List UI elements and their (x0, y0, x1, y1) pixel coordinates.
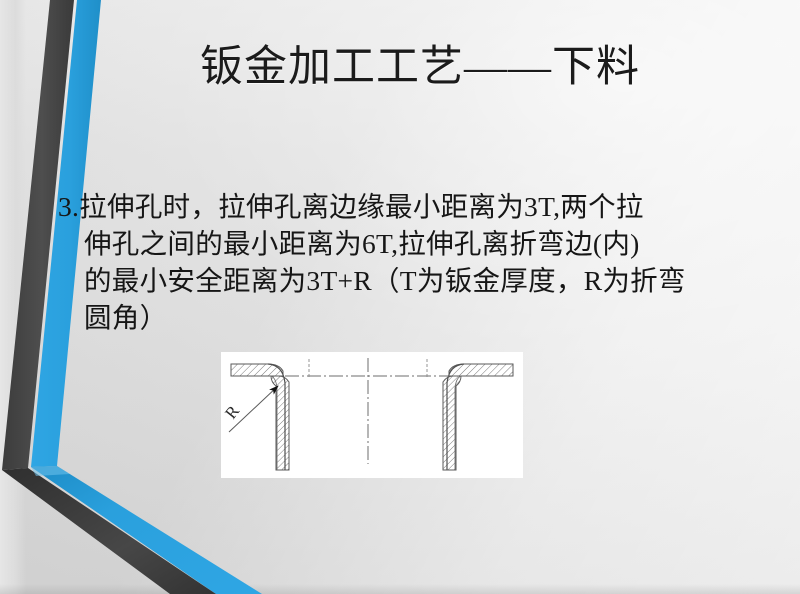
flange-right-hatched (449, 364, 513, 376)
technical-drawing-panel: R (221, 352, 523, 478)
slide-title: 钣金加工工艺——下料 (0, 44, 800, 91)
bottom-edge-shade (0, 584, 800, 594)
blue-band-lower (31, 466, 262, 594)
body-line-1: 3.拉伸孔时，拉伸孔离边缘最小距离为3T,两个拉 (58, 188, 764, 225)
body-line-4: 圆角） (58, 299, 764, 336)
dark-band-lower (2, 468, 216, 594)
body-line-2: 伸孔之间的最小距离为6T,拉伸孔离折弯边(内) (58, 225, 764, 262)
band-fold-highlight (31, 466, 70, 476)
slide-canvas: 钣金加工工艺——下料 3.拉伸孔时，拉伸孔离边缘最小距离为3T,两个拉 伸孔之间… (0, 0, 800, 594)
body-line-3: 的最小安全距离为3T+R（T为钣金厚度，R为折弯 (58, 262, 764, 299)
body-text-block: 3.拉伸孔时，拉伸孔离边缘最小距离为3T,两个拉 伸孔之间的最小距离为6T,拉伸… (58, 188, 764, 336)
radius-label: R (221, 401, 243, 422)
hole-wall-right-hatched (443, 376, 461, 470)
cross-section-diagram: R (221, 352, 523, 478)
